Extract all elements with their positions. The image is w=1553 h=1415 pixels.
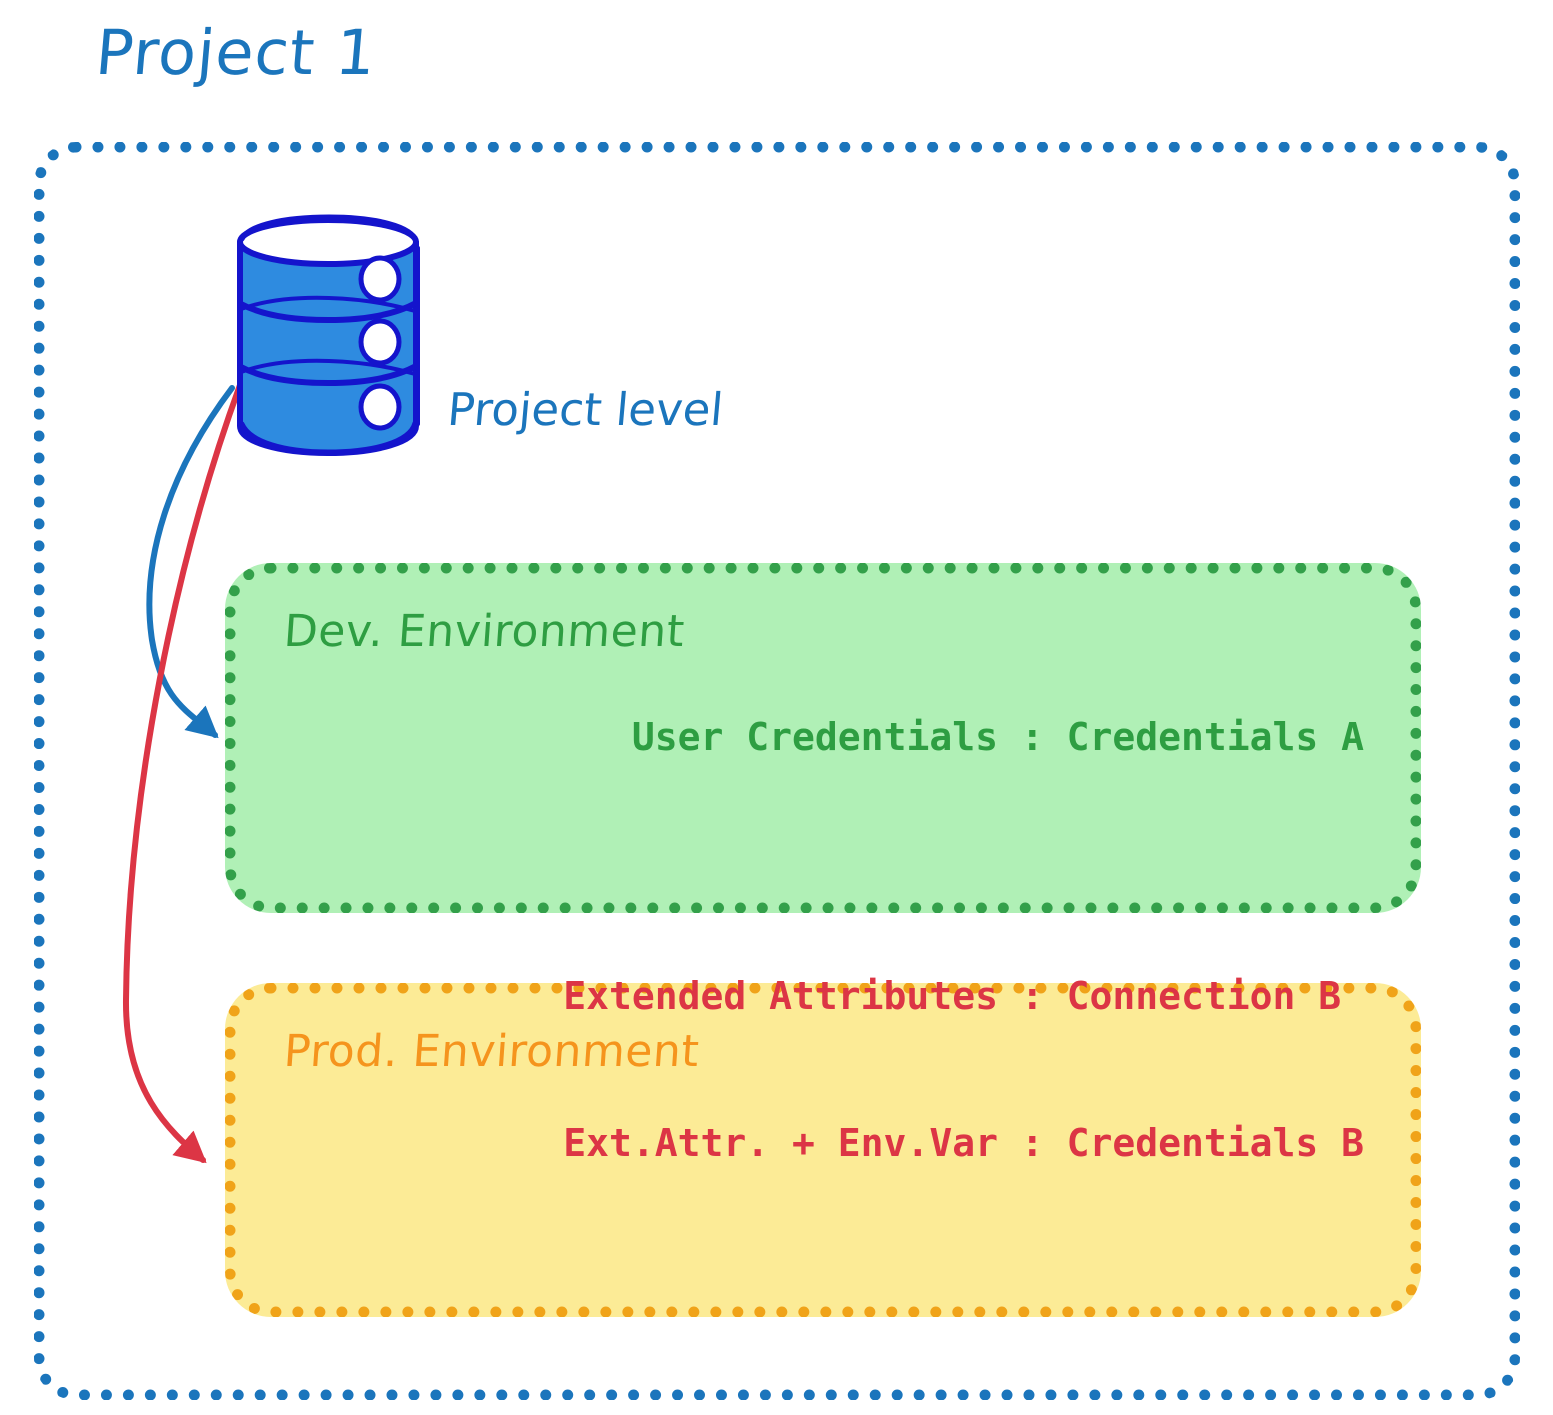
dev-environment-details: User Credentials : Credentials A [632,615,1364,860]
dev-environment-box[interactable]: Dev. Environment User Credentials : Cred… [225,563,1421,913]
prod-environment-box[interactable]: Prod. Environment Extended Attributes : … [225,983,1421,1317]
dev-environment-title: Dev. Environment [282,606,686,657]
database-node[interactable] [228,212,428,457]
dev-credentials-line: User Credentials : Credentials A [632,713,1364,762]
prod-environment-details: Extended Attributes : Connection B Ext.A… [563,874,1364,1266]
diagram-canvas: Project 1 [0,0,1553,1415]
database-cylinder-icon [228,212,428,457]
prod-attributes-line: Extended Attributes : Connection B [563,972,1364,1021]
page-title: Project 1 [93,16,380,89]
database-label-line1: Project level [445,380,743,439]
prod-credentials-line: Ext.Attr. + Env.Var : Credentials B [563,1119,1364,1168]
